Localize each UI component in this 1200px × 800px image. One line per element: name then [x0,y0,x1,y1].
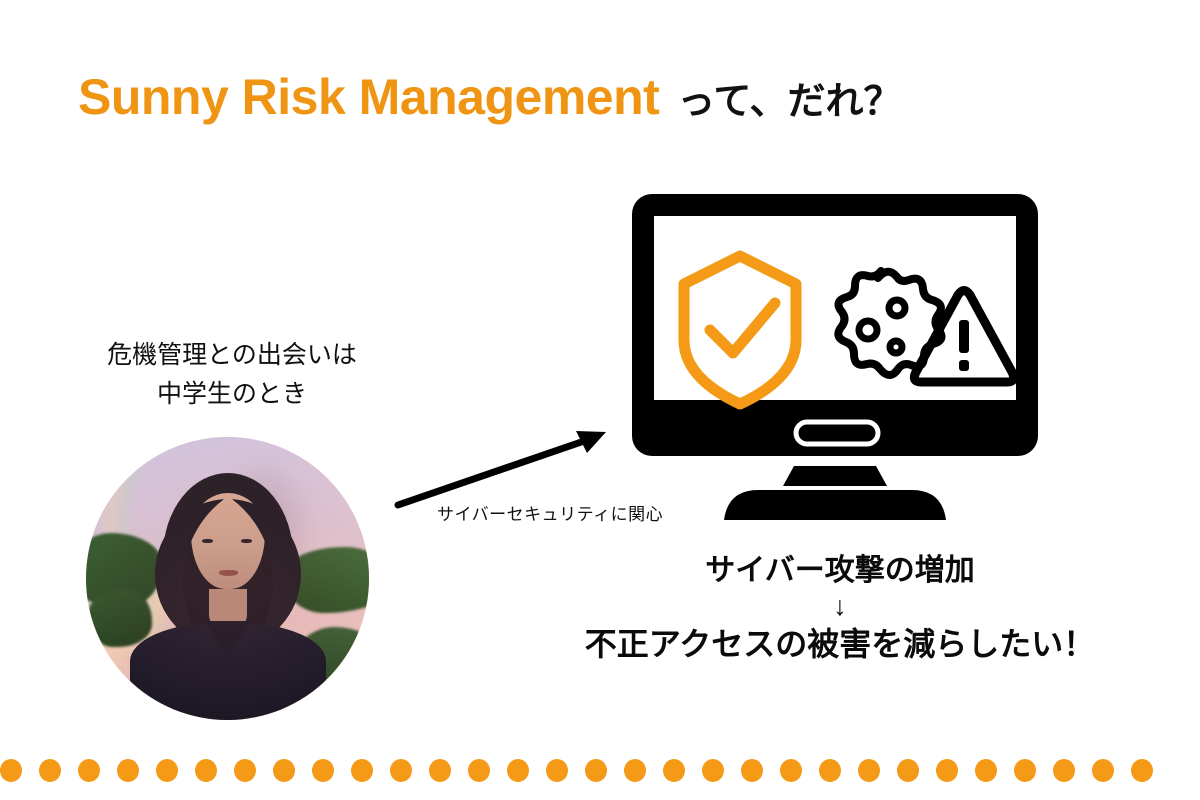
left-caption-line-2: 中学生のとき [62,375,402,414]
divider-dot [975,759,997,782]
avatar [86,437,369,720]
conclusion-block: サイバー攻撃の増加 ↓ 不正アクセスの被害を減らしたい！ [560,552,1120,664]
dot-divider [0,748,1200,792]
divider-dot [1053,759,1075,782]
divider-dot [936,759,958,782]
divider-dot [39,759,61,782]
divider-dot [858,759,880,782]
divider-dot [390,759,412,782]
divider-dot [819,759,841,782]
left-caption-line-1: 危機管理との出会いは [62,336,402,375]
title-brand: Sunny Risk Management [78,72,659,122]
conclusion-line-2: 不正アクセスの被害を減らしたい！ [560,625,1120,663]
divider-dot [741,759,763,782]
monitor-neck [783,466,887,486]
monitor-base [724,490,946,520]
conclusion-line-1: サイバー攻撃の増加 [560,552,1120,590]
divider-dot [780,759,802,782]
divider-dot [117,759,139,782]
divider-dot [624,759,646,782]
divider-dot [546,759,568,782]
divider-dot [702,759,724,782]
divider-dot [156,759,178,782]
left-caption: 危機管理との出会いは 中学生のとき [62,336,402,414]
divider-dot [351,759,373,782]
slide-canvas: Sunny Risk Management って、だれ？ 危機管理との出会いは … [0,0,1200,800]
divider-dot [273,759,295,782]
divider-dot [429,759,451,782]
divider-dot [1092,759,1114,782]
divider-dot [897,759,919,782]
portrait-color-overlay [86,437,369,720]
monitor-screen [654,216,1016,400]
title-suffix: って、だれ？ [677,83,901,121]
divider-dot [78,759,100,782]
divider-dot [1131,759,1153,782]
divider-dot [1014,759,1036,782]
divider-dot [0,759,22,782]
divider-dot [585,759,607,782]
divider-dot [234,759,256,782]
divider-dot [507,759,529,782]
monitor-illustration [628,190,1042,530]
down-arrow-icon: ↓ [560,592,1120,622]
divider-dot [663,759,685,782]
divider-dot [312,759,334,782]
page-title: Sunny Risk Management って、だれ？ [78,72,902,122]
divider-dot [468,759,490,782]
divider-dot [195,759,217,782]
